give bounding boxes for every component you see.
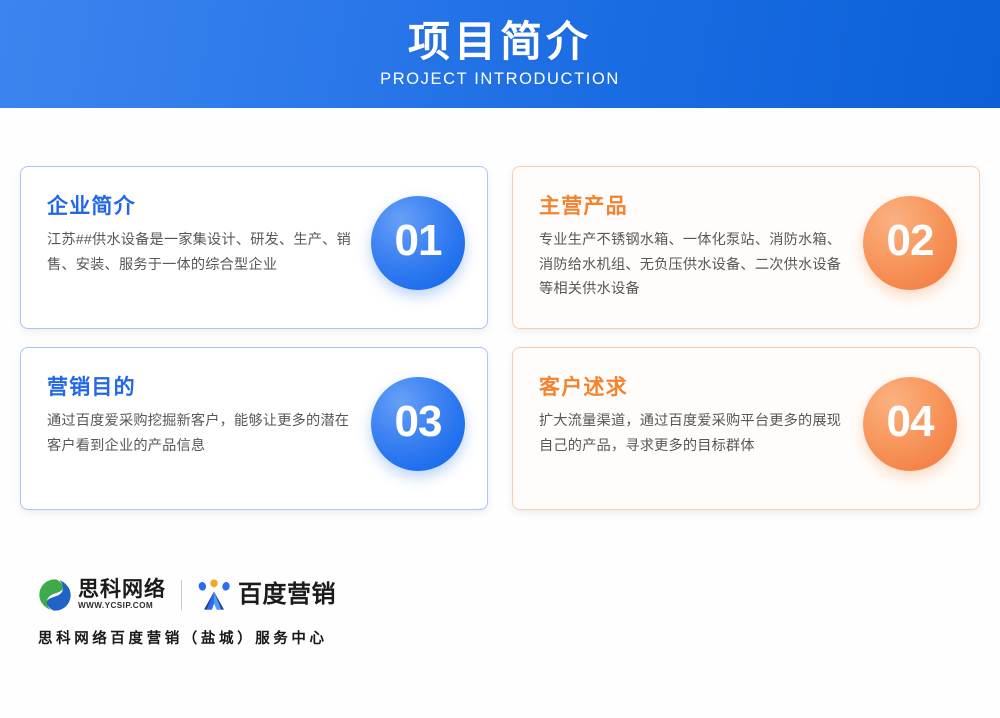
card-number-label: 04 bbox=[887, 397, 934, 447]
intro-card-grid: 企业简介 江苏##供水设备是一家集设计、研发、生产、销售、安装、服务于一体的综合… bbox=[20, 166, 980, 510]
footer-branding: 思科网络 WWW.YCSIP.COM 百度营销 思科网络百度营销（盐城）服务中心 bbox=[38, 572, 458, 648]
intro-card-03[interactable]: 营销目的 通过百度爱采购挖掘新客户，能够让更多的潜在客户看到企业的产品信息 03 bbox=[20, 347, 488, 510]
sike-name-label: 思科网络 bbox=[78, 579, 166, 600]
page-header-banner: 项目简介 PROJECT INTRODUCTION bbox=[0, 0, 1000, 108]
logo-divider bbox=[181, 580, 182, 610]
baidu-paw-icon bbox=[197, 579, 231, 611]
card-body-text: 扩大流量渠道，通过百度爱采购平台更多的展现自己的产品，寻求更多的目标群体 bbox=[539, 409, 851, 458]
card-number-badge: 01 bbox=[371, 196, 465, 290]
intro-card-01[interactable]: 企业简介 江苏##供水设备是一家集设计、研发、生产、销售、安装、服务于一体的综合… bbox=[20, 166, 488, 329]
sike-url-label: WWW.YCSIP.COM bbox=[78, 602, 166, 610]
card-number-label: 01 bbox=[395, 216, 442, 266]
card-number-badge: 03 bbox=[371, 377, 465, 471]
baidu-name-label: 百度营销 bbox=[238, 583, 336, 607]
page-subtitle: PROJECT INTRODUCTION bbox=[380, 70, 620, 89]
sike-network-logo: 思科网络 WWW.YCSIP.COM bbox=[38, 578, 166, 612]
card-number-badge: 04 bbox=[863, 377, 957, 471]
page-title: 项目简介 bbox=[408, 19, 592, 64]
card-number-label: 02 bbox=[887, 216, 934, 266]
intro-card-02[interactable]: 主营产品 专业生产不锈钢水箱、一体化泵站、消防水箱、消防给水机组、无负压供水设备… bbox=[512, 166, 980, 329]
sike-text-block: 思科网络 WWW.YCSIP.COM bbox=[78, 579, 166, 610]
card-number-badge: 02 bbox=[863, 196, 957, 290]
baidu-marketing-logo: 百度营销 bbox=[197, 579, 336, 611]
project-introduction-page: 项目简介 PROJECT INTRODUCTION 企业简介 江苏##供水设备是… bbox=[0, 0, 1000, 718]
intro-card-04[interactable]: 客户述求 扩大流量渠道，通过百度爱采购平台更多的展现自己的产品，寻求更多的目标群… bbox=[512, 347, 980, 510]
card-body-text: 通过百度爱采购挖掘新客户，能够让更多的潜在客户看到企业的产品信息 bbox=[47, 409, 359, 458]
sike-swoosh-icon bbox=[38, 578, 72, 612]
card-number-label: 03 bbox=[395, 397, 442, 447]
card-body-text: 专业生产不锈钢水箱、一体化泵站、消防水箱、消防给水机组、无负压供水设备、二次供水… bbox=[539, 228, 851, 301]
footer-logo-row: 思科网络 WWW.YCSIP.COM 百度营销 bbox=[38, 572, 458, 618]
footer-tagline: 思科网络百度营销（盐城）服务中心 bbox=[38, 627, 458, 648]
card-body-text: 江苏##供水设备是一家集设计、研发、生产、销售、安装、服务于一体的综合型企业 bbox=[47, 228, 359, 277]
